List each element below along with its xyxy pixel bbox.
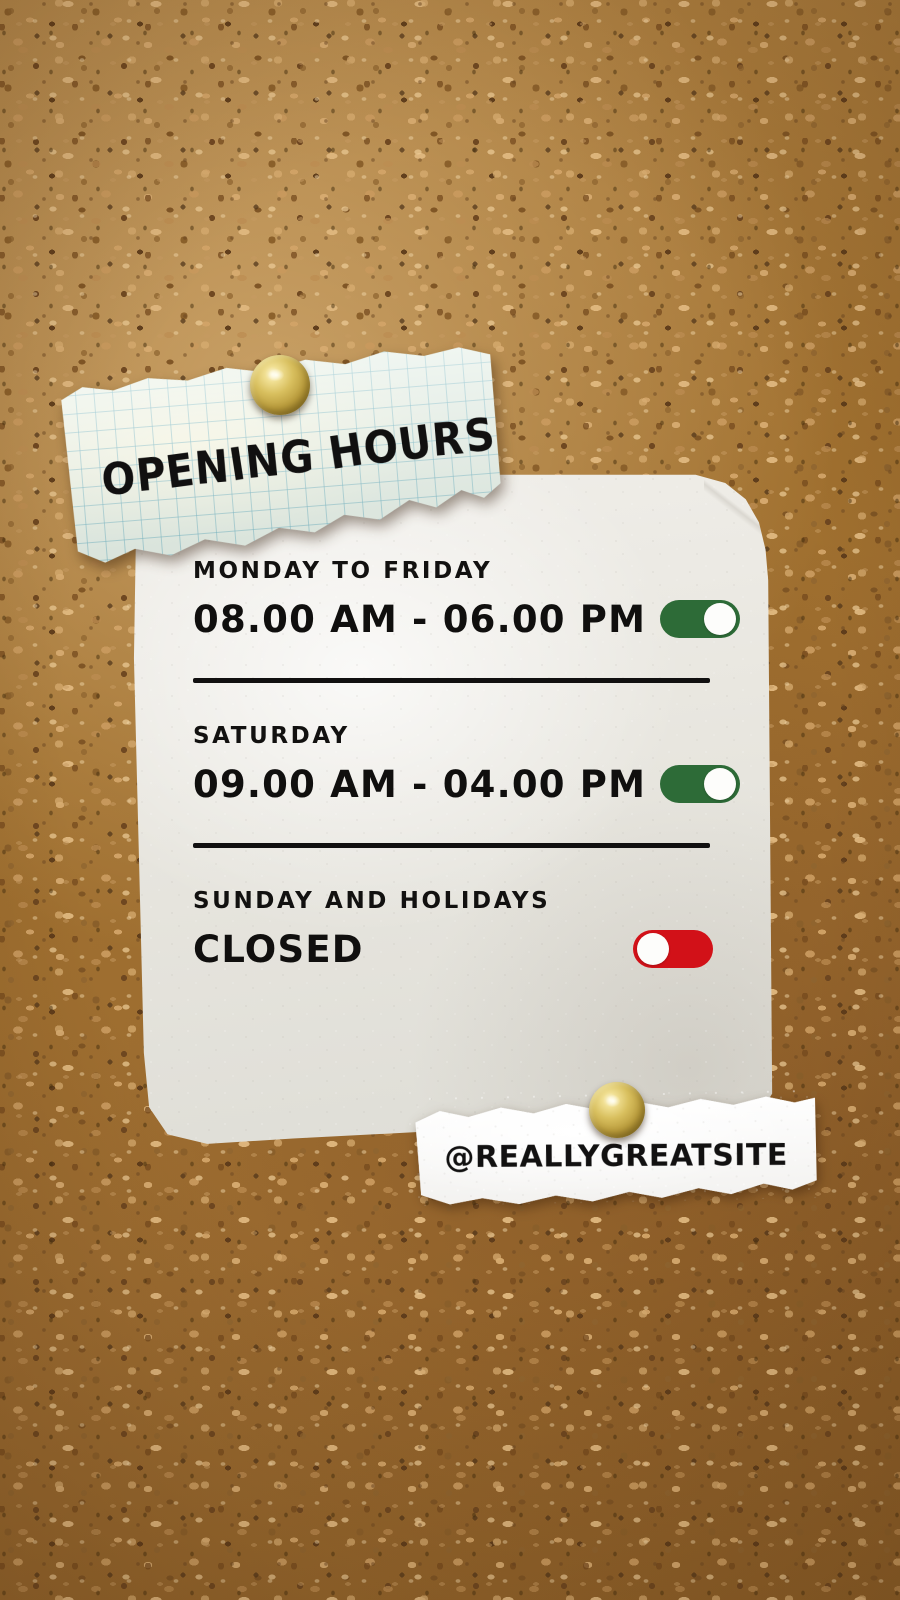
schedule-day-label: SUNDAY AND HOLIDAYS: [193, 890, 713, 913]
schedule-status-value: CLOSED: [193, 931, 364, 968]
toggle-knob: [704, 603, 736, 635]
schedule-row-sunday: SUNDAY AND HOLIDAYS CLOSED: [193, 890, 713, 968]
schedule-row-weekdays: MONDAY TO FRIDAY 08.00 AM - 06.00 PM: [193, 560, 713, 638]
schedule-time-value: 08.00 AM - 06.00 PM: [193, 601, 646, 638]
toggle-sunday[interactable]: [633, 930, 713, 968]
poster-canvas: OPENING HOURS MONDAY TO FRIDAY 08.00 AM …: [0, 0, 900, 1600]
schedule-list: MONDAY TO FRIDAY 08.00 AM - 06.00 PM SAT…: [193, 560, 713, 968]
toggle-weekdays[interactable]: [660, 600, 740, 638]
row-divider-2: [193, 843, 710, 848]
toggle-knob: [704, 768, 736, 800]
toggle-knob: [637, 933, 669, 965]
schedule-time-value: 09.00 AM - 04.00 PM: [193, 766, 646, 803]
social-handle: @REALLYGREATSITE: [412, 1138, 820, 1176]
schedule-day-label: SATURDAY: [193, 725, 713, 748]
schedule-day-label: MONDAY TO FRIDAY: [193, 560, 713, 583]
gold-pushpin-icon: [589, 1082, 645, 1138]
toggle-saturday[interactable]: [660, 765, 740, 803]
gold-pushpin-icon: [250, 355, 310, 415]
row-divider-1: [193, 678, 710, 683]
schedule-row-saturday: SATURDAY 09.00 AM - 04.00 PM: [193, 725, 713, 803]
